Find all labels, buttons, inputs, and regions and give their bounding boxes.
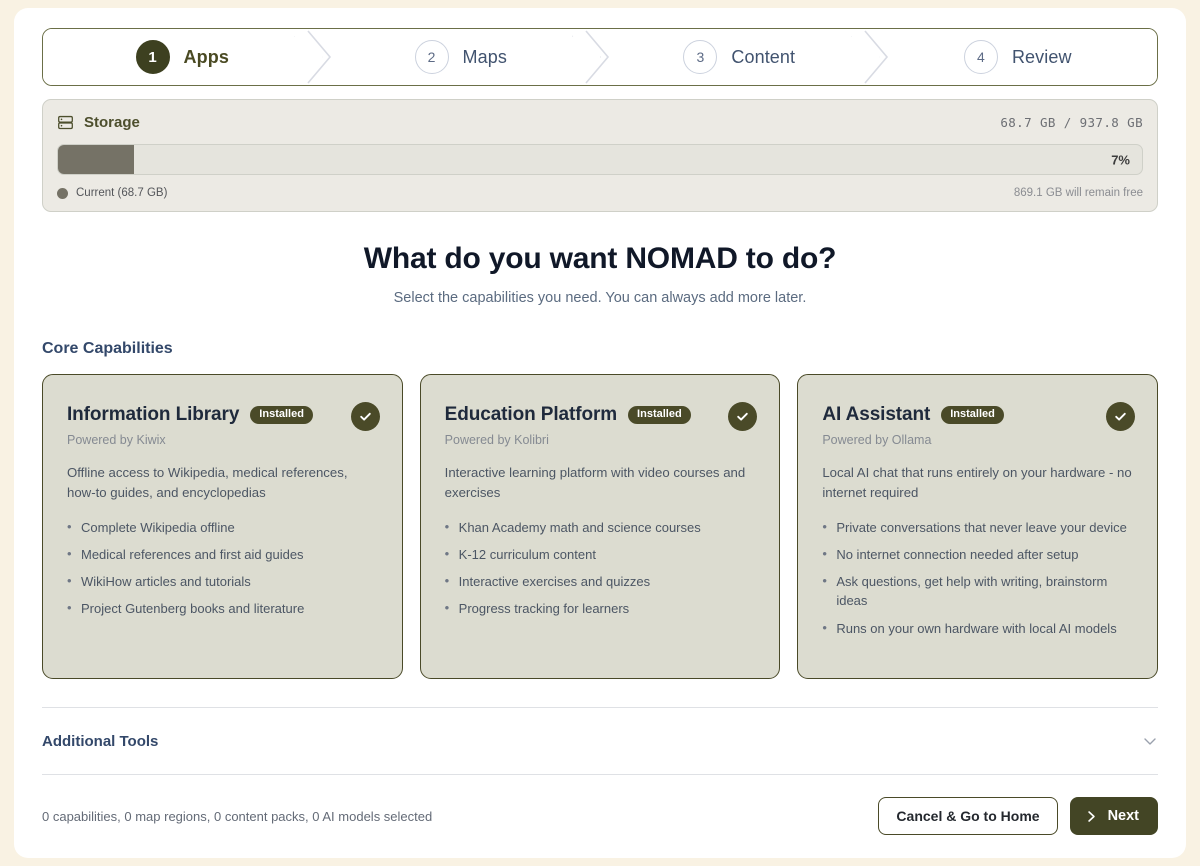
storage-progress-fill [58,145,134,174]
section-title-core-capabilities: Core Capabilities [42,340,1158,358]
check-icon [735,409,750,424]
step-number-1: 1 [136,40,170,74]
step-label-1: Apps [184,47,229,68]
list-item: K-12 curriculum content [445,545,758,564]
hero-section: What do you want NOMAD to do? Select the… [42,242,1158,306]
footer-actions: Cancel & Go to Home Next [878,797,1158,835]
step-label-2: Maps [463,47,507,68]
capability-card-information-library[interactable]: Information Library Installed Powered by… [42,374,403,679]
list-item: Khan Academy math and science courses [445,518,758,537]
selected-check-icon[interactable] [728,402,757,431]
card-feature-list: Private conversations that never leave y… [822,518,1135,638]
wizard-stepper: 1 Apps 2 Maps 3 Content [42,28,1158,86]
selected-check-icon[interactable] [1106,402,1135,431]
list-item: No internet connection needed after setu… [822,545,1135,564]
list-item: Ask questions, get help with writing, br… [822,572,1135,610]
installed-badge: Installed [941,406,1004,424]
additional-tools-label: Additional Tools [42,733,158,750]
installed-badge: Installed [250,406,313,424]
step-content[interactable]: 3 Content [600,29,879,85]
selection-summary: 0 capabilities, 0 map regions, 0 content… [42,809,432,824]
cancel-button[interactable]: Cancel & Go to Home [878,797,1057,835]
selected-check-icon[interactable] [351,402,380,431]
step-apps[interactable]: 1 Apps [43,29,322,85]
list-item: Progress tracking for learners [445,599,758,618]
storage-legend: Current (68.7 GB) [57,187,167,199]
card-subtitle: Powered by Kiwix [67,433,380,447]
step-label-4: Review [1012,47,1072,68]
page-subtitle: Select the capabilities you need. You ca… [42,290,1158,306]
step-number-2: 2 [415,40,449,74]
storage-title-label: Storage [84,114,140,131]
next-button[interactable]: Next [1070,797,1158,835]
card-title-row: AI Assistant Installed [822,404,1135,426]
app-window: 1 Apps 2 Maps 3 Content [14,8,1186,858]
chevron-right-icon [1085,810,1098,823]
step-maps[interactable]: 2 Maps [322,29,601,85]
card-description: Interactive learning platform with video… [445,463,758,503]
storage-title: Storage [57,114,140,131]
card-subtitle: Powered by Ollama [822,433,1135,447]
card-description: Local AI chat that runs entirely on your… [822,463,1135,503]
card-title: Information Library [67,404,239,426]
storage-remaining-label: 869.1 GB will remain free [1014,187,1143,199]
check-icon [358,409,373,424]
storage-header: Storage 68.7 GB / 937.8 GB [57,114,1143,131]
capability-card-ai-assistant[interactable]: AI Assistant Installed Powered by Ollama… [797,374,1158,679]
list-item: Medical references and first aid guides [67,545,380,564]
legend-swatch-current [57,188,68,199]
card-title: AI Assistant [822,404,930,426]
check-icon [1113,409,1128,424]
card-title-row: Information Library Installed [67,404,380,426]
step-number-4: 4 [964,40,998,74]
step-label-3: Content [731,47,795,68]
card-feature-list: Complete Wikipedia offline Medical refer… [67,518,380,618]
wizard-footer: 0 capabilities, 0 map regions, 0 content… [42,797,1158,835]
page-title: What do you want NOMAD to do? [42,242,1158,276]
storage-footer: Current (68.7 GB) 869.1 GB will remain f… [57,187,1143,199]
storage-progress-bar: 7% [57,144,1143,175]
storage-usage-values: 68.7 GB / 937.8 GB [1000,115,1143,130]
card-description: Offline access to Wikipedia, medical ref… [67,463,380,503]
step-review[interactable]: 4 Review [879,29,1158,85]
capability-card-grid: Information Library Installed Powered by… [42,374,1158,679]
storage-panel: Storage 68.7 GB / 937.8 GB 7% Current (6… [42,99,1158,212]
list-item: Project Gutenberg books and literature [67,599,380,618]
next-button-label: Next [1108,808,1139,824]
card-subtitle: Powered by Kolibri [445,433,758,447]
list-item: WikiHow articles and tutorials [67,572,380,591]
legend-label-current: Current (68.7 GB) [76,187,167,199]
list-item: Complete Wikipedia offline [67,518,380,537]
chevron-down-icon[interactable] [1142,733,1158,749]
card-feature-list: Khan Academy math and science courses K-… [445,518,758,618]
card-title-row: Education Platform Installed [445,404,758,426]
installed-badge: Installed [628,406,691,424]
step-number-3: 3 [683,40,717,74]
additional-tools-accordion[interactable]: Additional Tools [42,707,1158,775]
list-item: Private conversations that never leave y… [822,518,1135,537]
list-item: Runs on your own hardware with local AI … [822,619,1135,638]
card-title: Education Platform [445,404,617,426]
capability-card-education-platform[interactable]: Education Platform Installed Powered by … [420,374,781,679]
storage-drive-icon [57,114,74,131]
storage-percent-label: 7% [1111,152,1130,167]
list-item: Interactive exercises and quizzes [445,572,758,591]
